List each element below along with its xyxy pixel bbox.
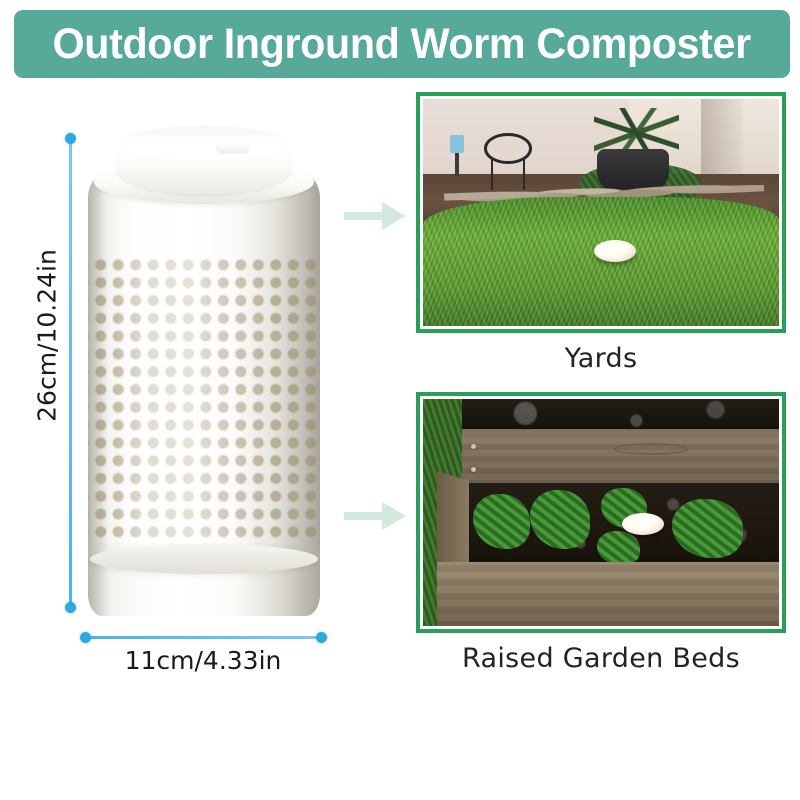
height-dimension-line	[69, 138, 72, 608]
bed-upper-wood-panel	[462, 429, 779, 488]
photo-yards	[423, 99, 779, 326]
bed-wood-grain	[614, 443, 688, 455]
photo-frame-raised-garden-beds	[416, 392, 786, 633]
use-case-card-yards: Yards	[416, 92, 786, 374]
bed-plant	[597, 531, 640, 565]
composter-perforations	[88, 254, 320, 544]
width-dimension-endpoint-right	[316, 632, 327, 643]
composter-bottom-edge	[90, 544, 318, 574]
height-dimension-endpoint-bottom	[65, 602, 76, 613]
width-dimension-label: 11cm/4.33in	[80, 646, 326, 675]
yard-lawn	[423, 197, 779, 326]
installed-composter-lid	[594, 240, 636, 262]
photo-raised-garden-beds	[423, 399, 779, 626]
composter-lid-notch	[216, 142, 250, 154]
right-arrow-icon	[344, 196, 408, 236]
right-arrow-icon	[344, 496, 408, 536]
width-dimension-line	[85, 636, 321, 639]
page-title: Outdoor Inground Worm Composter	[53, 20, 751, 69]
photo-frame-yards	[416, 92, 786, 333]
header-banner: Outdoor Inground Worm Composter	[14, 10, 790, 78]
use-case-caption-raised-garden-beds: Raised Garden Beds	[416, 643, 786, 674]
composter-lid-top-face	[118, 126, 290, 160]
product-panel: 26cm/10.24in 11cm/4.33in	[0, 86, 400, 686]
use-case-caption-yards: Yards	[416, 343, 786, 374]
installed-composter-lid	[622, 513, 664, 535]
width-dimension-endpoint-left	[80, 632, 91, 643]
yard-blue-marker	[450, 135, 464, 153]
use-case-card-raised-garden-beds: Raised Garden Beds	[416, 392, 786, 674]
height-dimension-label: 26cm/10.24in	[33, 241, 62, 431]
product-image-composter	[88, 126, 320, 616]
height-dimension-endpoint-top	[65, 133, 76, 144]
bed-front-wood-panel	[437, 562, 779, 626]
